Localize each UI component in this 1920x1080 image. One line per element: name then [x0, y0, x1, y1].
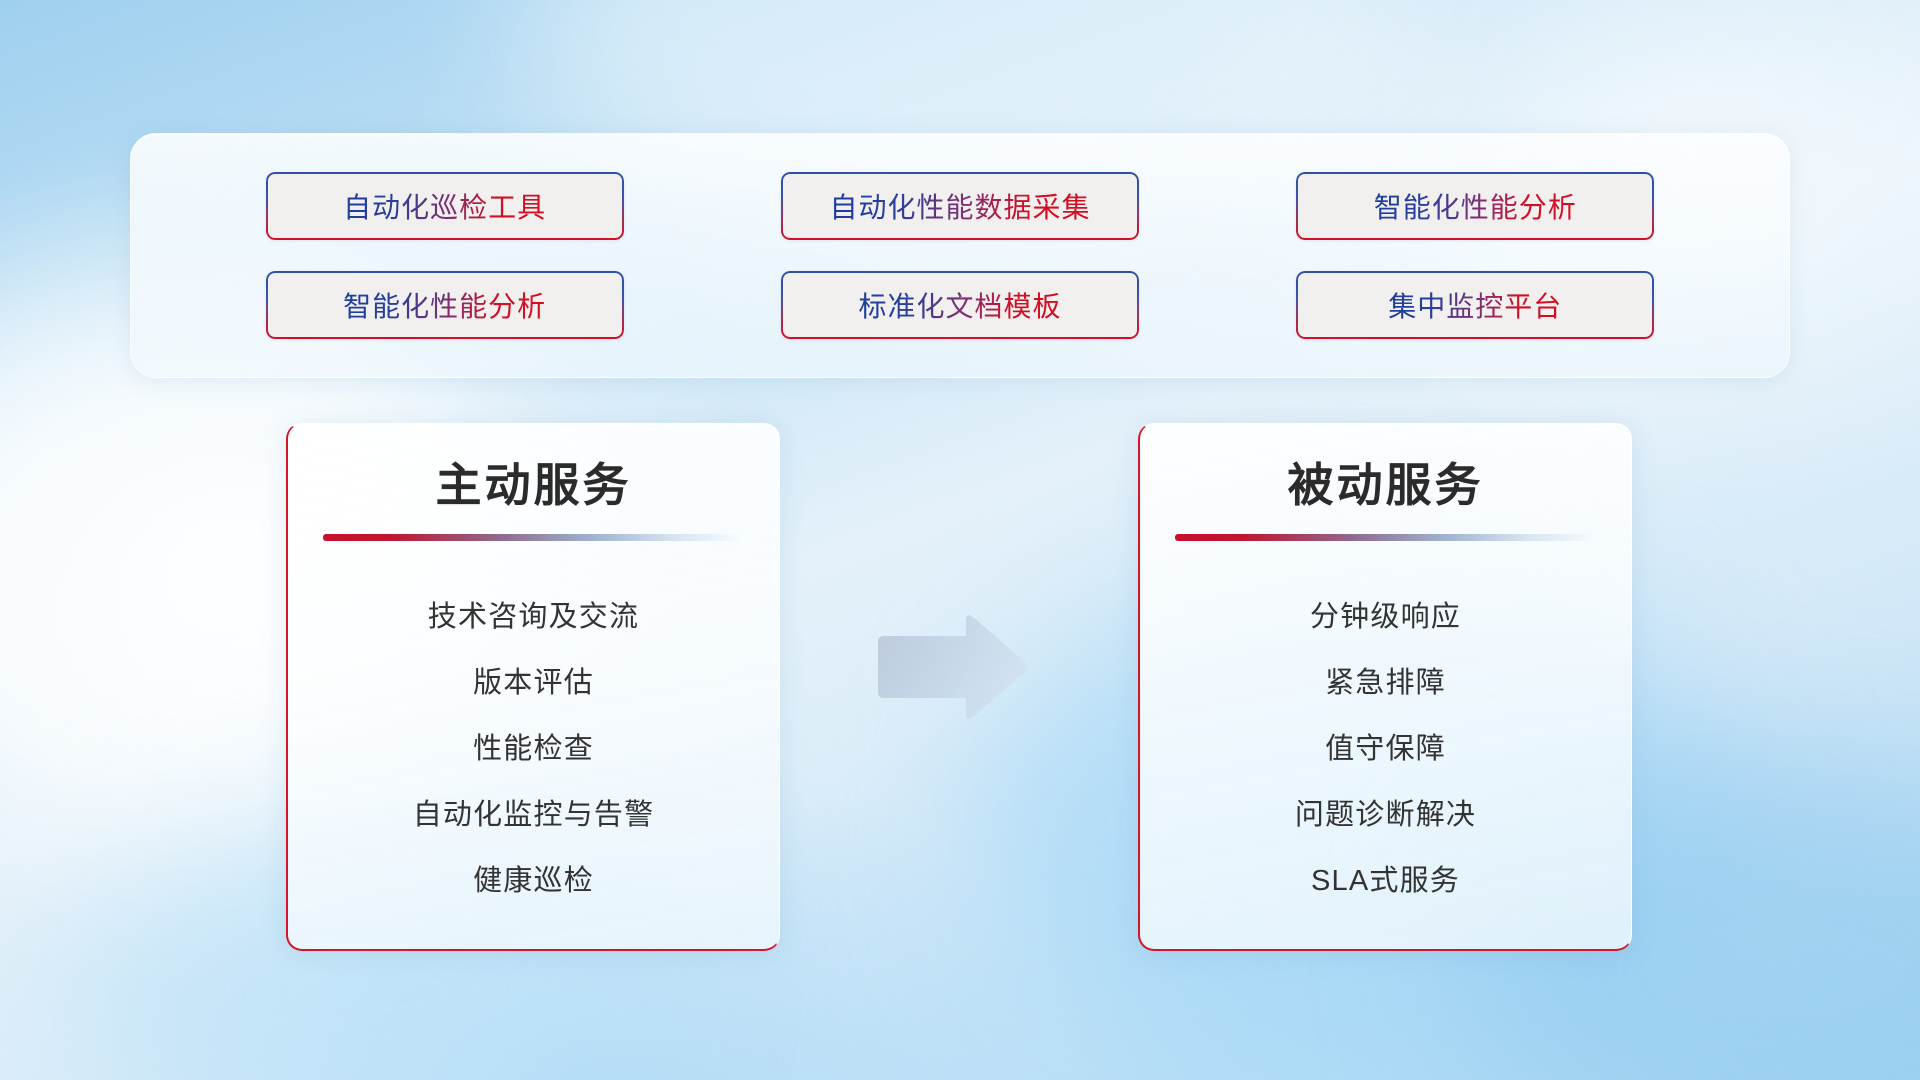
- capability-tag-label: 自动化性能数据采集: [829, 186, 1090, 226]
- capability-tag-label: 集中监控平台: [1388, 285, 1562, 325]
- capability-tag[interactable]: 自动化巡检工具: [266, 172, 624, 240]
- capability-tag-label: 智能化性能分析: [343, 285, 546, 325]
- list-item: 技术咨询及交流: [428, 585, 639, 651]
- right-arrow-icon: [872, 612, 1030, 724]
- service-card-title: 主动服务: [436, 460, 632, 512]
- list-item: 分钟级响应: [1310, 585, 1461, 651]
- title-underline-rule: [323, 534, 745, 541]
- list-item: 自动化监控与告警: [413, 783, 655, 849]
- capability-tag[interactable]: 智能化性能分析: [266, 271, 624, 339]
- capability-tag[interactable]: 集中监控平台: [1296, 271, 1654, 339]
- list-item: 紧急排障: [1325, 651, 1446, 717]
- capability-tag-label: 智能化性能分析: [1374, 186, 1577, 226]
- capability-tag-label: 标准化文档模板: [858, 285, 1061, 325]
- list-item: 性能检查: [473, 717, 594, 783]
- capability-tags-panel: 自动化巡检工具 自动化性能数据采集 智能化性能分析 智能化性能分析 标准化文档模…: [130, 133, 1790, 378]
- capability-tag[interactable]: 智能化性能分析: [1296, 172, 1654, 240]
- service-card-title: 被动服务: [1288, 460, 1484, 512]
- service-item-list: 分钟级响应 紧急排障 值守保障 问题诊断解决 SLA式服务: [1166, 585, 1605, 915]
- list-item: 值守保障: [1325, 717, 1446, 783]
- list-item: 健康巡检: [473, 849, 594, 915]
- capability-tag[interactable]: 自动化性能数据采集: [781, 172, 1139, 240]
- list-item: SLA式服务: [1311, 849, 1460, 915]
- list-item: 版本评估: [473, 651, 594, 717]
- title-underline-rule: [1175, 534, 1597, 541]
- service-card-reactive: 被动服务 分钟级响应 紧急排障 值守保障 问题诊断解决 SLA式服务: [1138, 423, 1632, 951]
- service-item-list: 技术咨询及交流 版本评估 性能检查 自动化监控与告警 健康巡检: [314, 585, 753, 915]
- capability-tag[interactable]: 标准化文档模板: [781, 271, 1139, 339]
- capability-tag-label: 自动化巡检工具: [343, 186, 546, 226]
- list-item: 问题诊断解决: [1295, 783, 1476, 849]
- service-card-proactive: 主动服务 技术咨询及交流 版本评估 性能检查 自动化监控与告警 健康巡检: [286, 423, 780, 951]
- slide-canvas: 自动化巡检工具 自动化性能数据采集 智能化性能分析 智能化性能分析 标准化文档模…: [0, 0, 1920, 1080]
